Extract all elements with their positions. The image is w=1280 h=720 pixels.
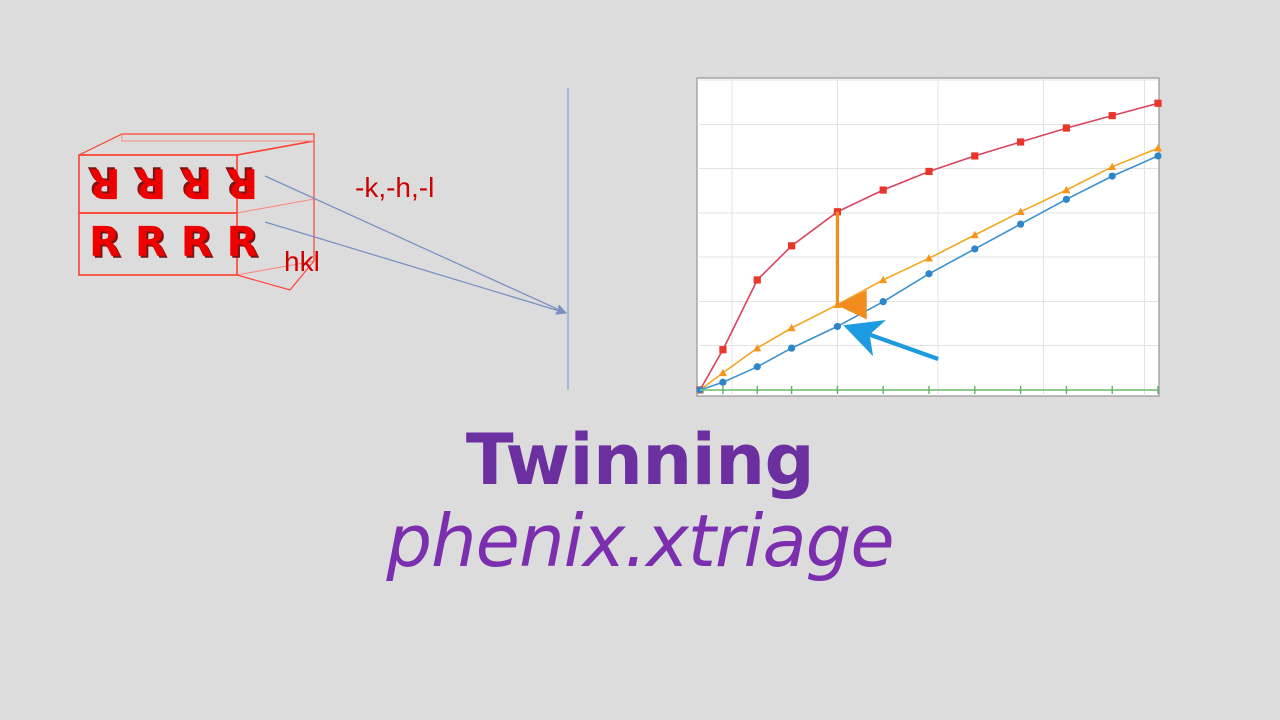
data-point-marker — [788, 345, 795, 352]
data-point-marker — [971, 245, 978, 252]
data-point-marker — [925, 168, 932, 175]
plot-background — [697, 78, 1159, 396]
data-point-marker — [880, 298, 887, 305]
title-block: Twinning phenix.xtriage — [0, 425, 1280, 580]
data-point-marker — [1154, 100, 1161, 107]
page-subtitle: phenix.xtriage — [0, 504, 1280, 580]
beam-rays — [265, 176, 566, 313]
data-point-marker — [1154, 152, 1161, 159]
cumulative-intensity-chart — [694, 72, 1162, 398]
chart-svg — [694, 72, 1162, 398]
data-point-marker — [754, 276, 761, 283]
data-point-marker — [754, 363, 761, 370]
page-title: Twinning — [0, 425, 1280, 496]
data-point-marker — [971, 152, 978, 159]
twin-lattice-diagram: R R R R R R R R hkl -k,-h,-l — [0, 0, 640, 420]
data-point-marker — [1063, 124, 1070, 131]
data-point-marker — [719, 379, 726, 386]
data-point-marker — [925, 270, 932, 277]
data-point-marker — [1063, 196, 1070, 203]
data-point-marker — [1109, 112, 1116, 119]
data-point-marker — [719, 346, 726, 353]
diffraction-arrows-svg — [0, 0, 640, 420]
data-point-marker — [834, 323, 841, 330]
slide-canvas: R R R R R R R R hkl -k,-h,-l — [0, 0, 1280, 720]
data-point-marker — [880, 186, 887, 193]
data-point-marker — [1017, 221, 1024, 228]
data-point-marker — [1109, 173, 1116, 180]
data-point-marker — [788, 242, 795, 249]
data-point-marker — [1017, 138, 1024, 145]
